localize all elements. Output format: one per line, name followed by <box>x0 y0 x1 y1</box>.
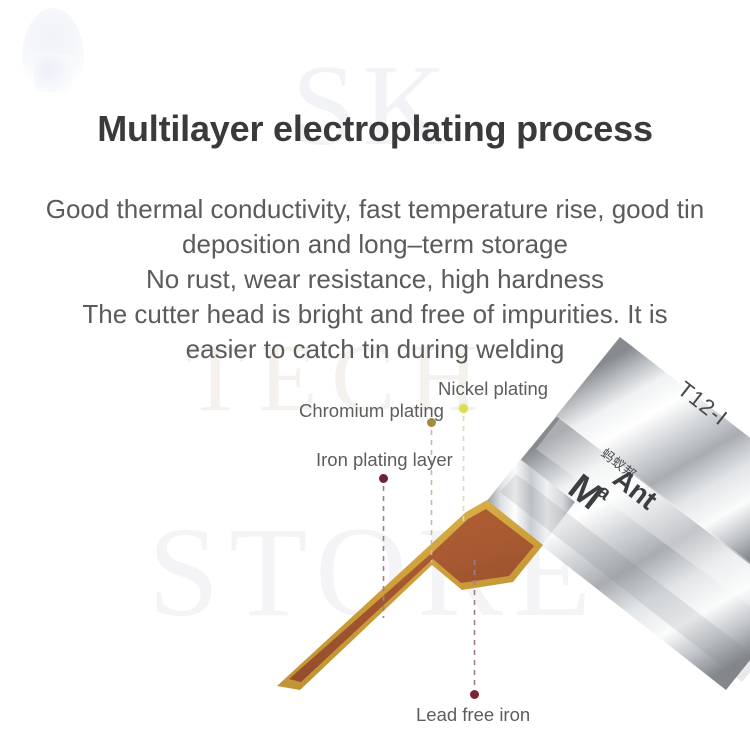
product-markings: 蚂蚁邦 M a Ant T12-I <box>561 376 733 517</box>
callout-label-nickel-plating: Nickel plating <box>438 378 548 400</box>
callout-label-iron-plating-layer: Iron plating layer <box>316 449 453 471</box>
page-title: Multilayer electroplating process <box>0 108 750 150</box>
callout-dot-lead-free-iron <box>470 690 479 699</box>
brand-cjk-text: 蚂蚁邦 <box>598 446 639 483</box>
description-line-1: Good thermal conductivity, fast temperat… <box>0 192 750 227</box>
description-line-5: easier to catch tin during welding <box>0 332 750 367</box>
description-line-2: deposition and long–term storage <box>0 227 750 262</box>
description-line-3: No rust, wear resistance, high hardness <box>0 262 750 297</box>
callout-label-lead-free-iron: Lead free iron <box>416 704 530 726</box>
description-line-4: The cutter head is bright and free of im… <box>0 297 750 332</box>
brand-watermark-logo-icon <box>22 8 84 94</box>
callout-dot-chromium-plating <box>427 418 436 427</box>
brand-latin-text-3: Ant <box>607 462 663 515</box>
callout-label-chromium-plating: Chromium plating <box>299 400 444 422</box>
callout-dot-nickel-plating <box>459 404 468 413</box>
model-number-text: T12-I <box>673 376 733 430</box>
infographic-canvas: SK TECH STORE Multilayer electroplating … <box>0 0 750 750</box>
watermark-store: STORE <box>148 508 601 636</box>
description-block: Good thermal conductivity, fast temperat… <box>0 192 750 367</box>
callout-dot-iron-plating-layer <box>379 474 388 483</box>
